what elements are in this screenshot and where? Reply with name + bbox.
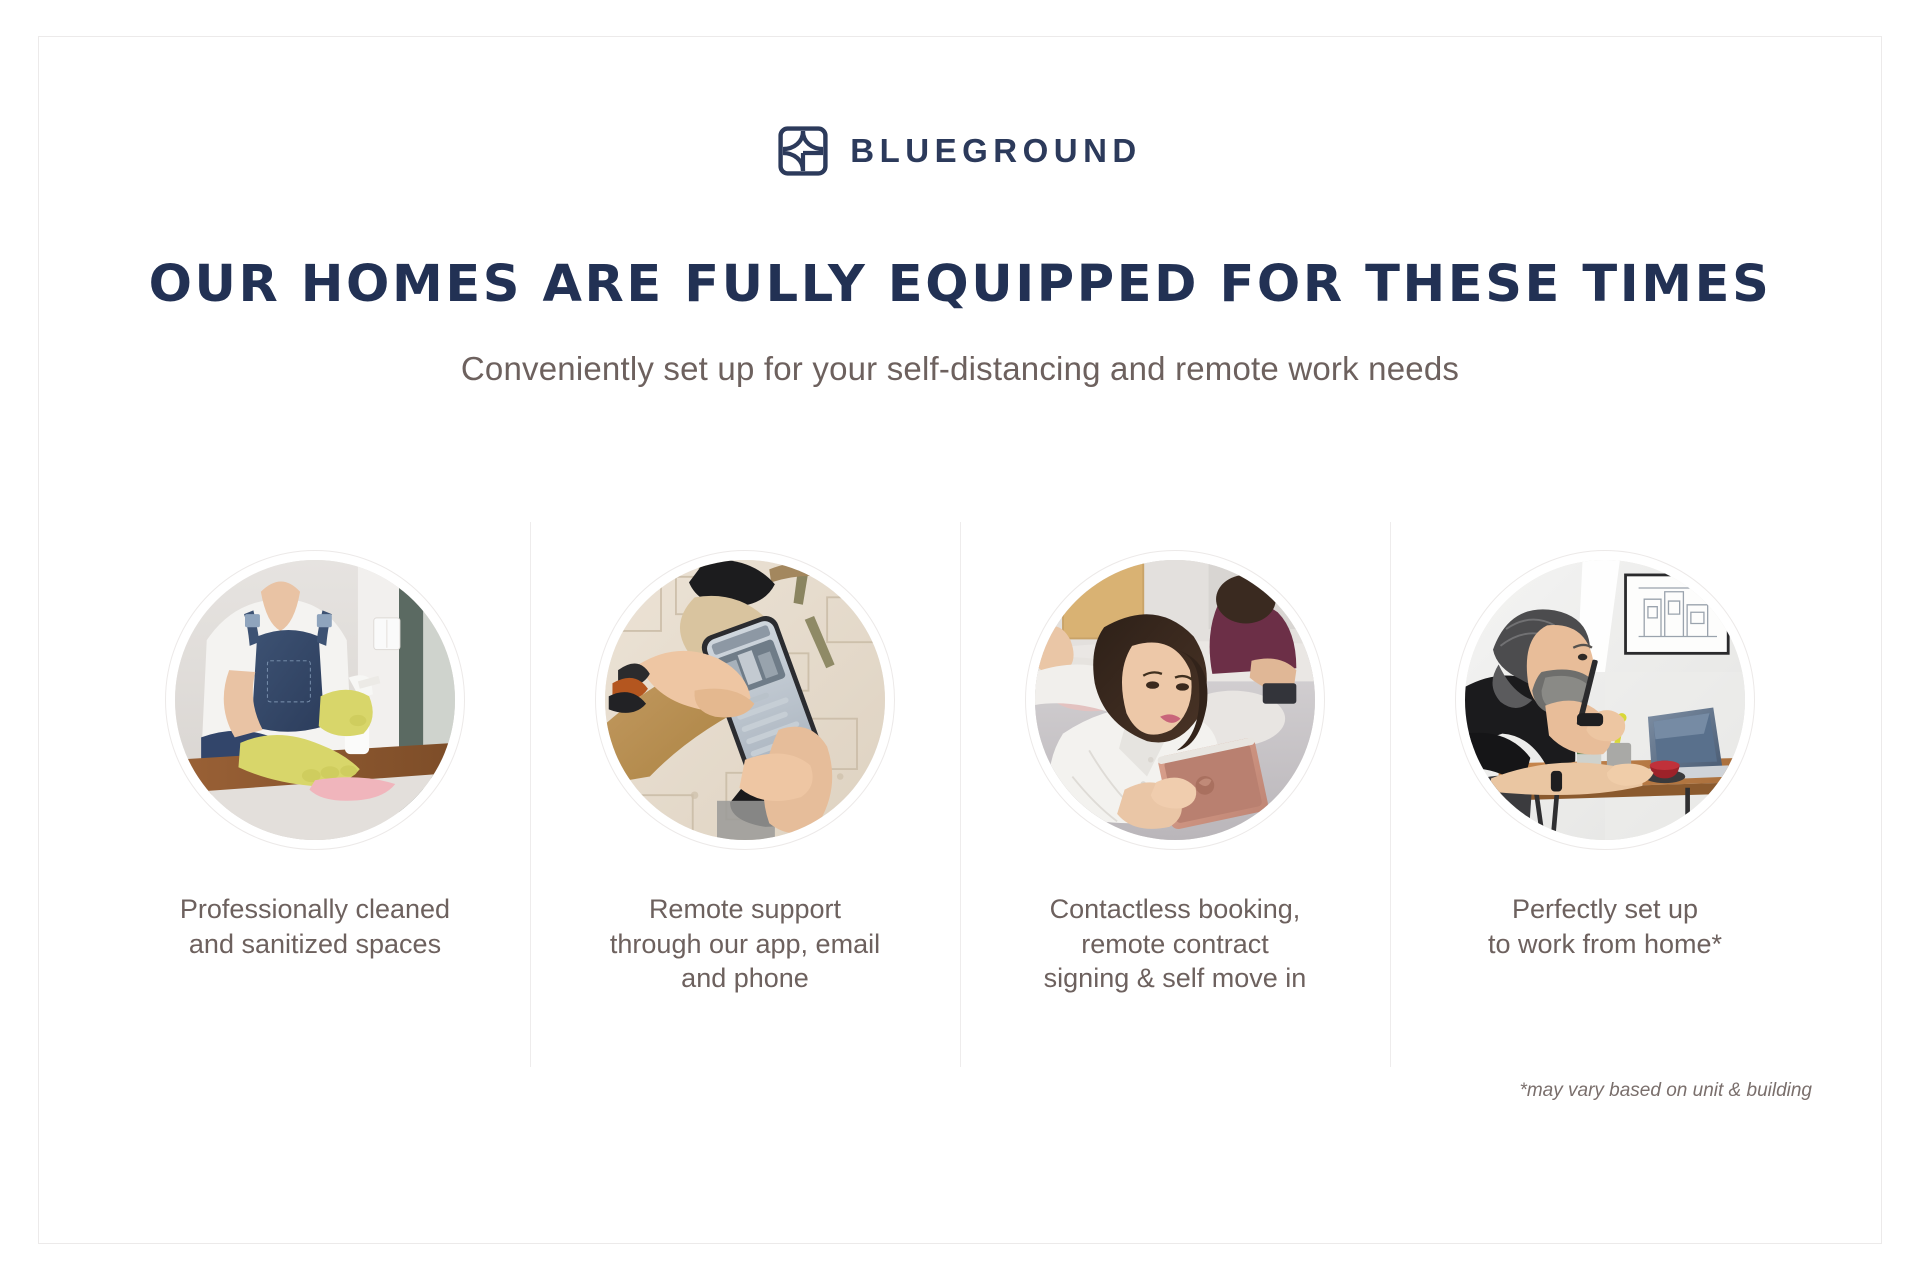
feature-caption: Contactless booking, remote contract sig… [1032, 892, 1319, 996]
work-from-home-photo [1465, 560, 1745, 840]
brand-wordmark: BLUEGROUND [850, 132, 1142, 170]
cleaning-photo-frame [165, 550, 465, 850]
phone-support-photo [605, 560, 885, 840]
blueground-square-logo-icon [778, 126, 828, 176]
footnote-disclaimer: *may vary based on unit & building [1519, 1080, 1812, 1102]
promo-banner: BLUEGROUND OUR HOMES ARE FULLY EQUIPPED … [0, 0, 1920, 1280]
feature-item-work-from-home: Perfectly set up to work from home* [1390, 522, 1820, 1067]
feature-caption: Professionally cleaned and sanitized spa… [168, 892, 462, 961]
feature-caption: Perfectly set up to work from home* [1476, 892, 1734, 961]
cleaning-photo [175, 560, 455, 840]
feature-columns: Professionally cleaned and sanitized spa… [100, 522, 1820, 1067]
work-from-home-photo-frame [1455, 550, 1755, 850]
page-title: OUR HOMES ARE FULLY EQUIPPED FOR THESE T… [0, 255, 1920, 314]
feature-caption: Remote support through our app, email an… [598, 892, 892, 996]
feature-item-remote-support: Remote support through our app, email an… [530, 522, 960, 1067]
contactless-booking-photo-frame [1025, 550, 1325, 850]
brand-logo: BLUEGROUND [0, 126, 1920, 176]
page-subtitle: Conveniently set up for your self-distan… [0, 350, 1920, 388]
contactless-booking-photo [1035, 560, 1315, 840]
feature-item-contactless-booking: Contactless booking, remote contract sig… [960, 522, 1390, 1067]
feature-item-cleaning: Professionally cleaned and sanitized spa… [100, 522, 530, 1067]
phone-support-photo-frame [595, 550, 895, 850]
